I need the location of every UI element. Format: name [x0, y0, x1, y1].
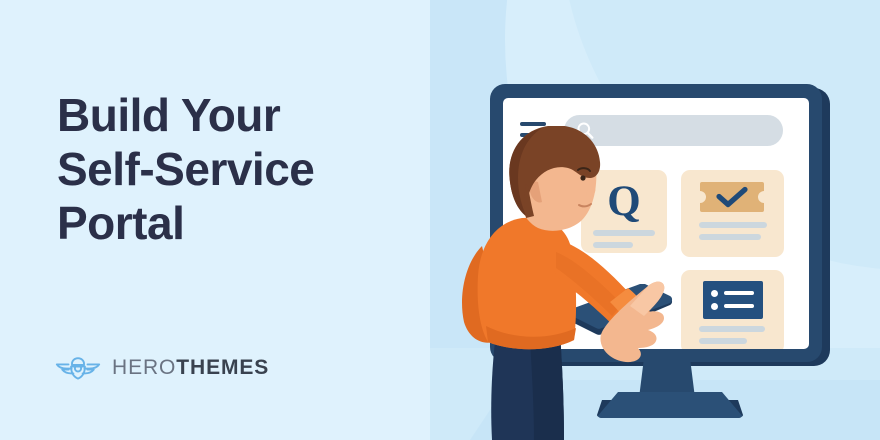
list-line — [724, 304, 754, 308]
person-illustration — [452, 126, 682, 440]
headline-line-3: Portal — [57, 196, 437, 250]
page-title: Build Your Self-Service Portal — [57, 88, 437, 250]
form-list-card[interactable] — [681, 270, 784, 349]
brand-name-hero: HERO — [112, 356, 176, 379]
winged-shield-icon — [55, 352, 101, 384]
ticket-check-icon — [699, 181, 765, 213]
brand-name: HEROTHEMES — [112, 356, 269, 380]
card-text-line — [699, 222, 767, 228]
card-text-line — [699, 338, 747, 344]
list-document-icon — [703, 281, 763, 319]
brand-name-themes: THEMES — [176, 356, 269, 379]
list-bullet — [711, 290, 718, 297]
headline-line-2: Self-Service — [57, 142, 437, 196]
card-text-line — [699, 326, 765, 332]
person-eye — [580, 175, 585, 180]
list-bullet — [711, 303, 718, 310]
headline-line-1: Build Your — [57, 88, 437, 142]
list-line — [724, 291, 754, 295]
card-text-line — [699, 234, 761, 240]
hero-banner: Build Your Self-Service Portal HEROTHEME… — [0, 0, 880, 440]
brand-logo[interactable]: HEROTHEMES — [55, 352, 269, 384]
ticket-card[interactable] — [681, 170, 784, 257]
